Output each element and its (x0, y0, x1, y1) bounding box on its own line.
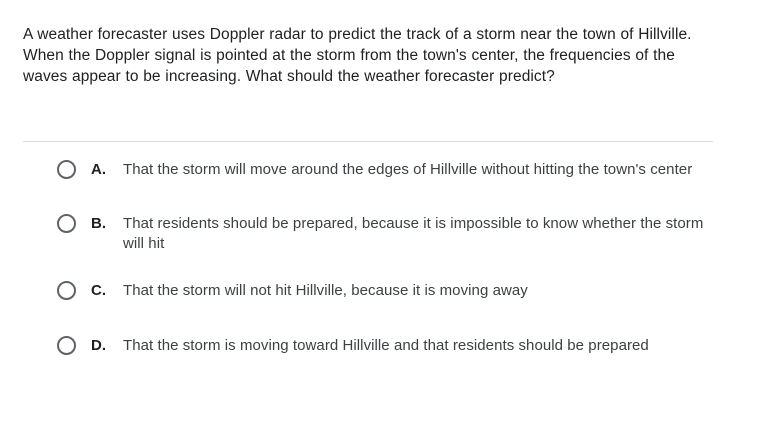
option-letter-a: A. (91, 160, 123, 180)
option-letter-b: B. (91, 214, 123, 234)
question-card: A weather forecaster uses Doppler radar … (0, 0, 778, 431)
radio-button-b[interactable] (57, 214, 76, 233)
section-divider (23, 141, 713, 142)
option-text-b: That residents should be prepared, becau… (123, 214, 715, 254)
option-text-c: That the storm will not hit Hillville, b… (123, 281, 715, 301)
option-row-d[interactable]: D. That the storm is moving toward Hillv… (0, 336, 778, 364)
option-letter-d: D. (91, 336, 123, 356)
question-stem: A weather forecaster uses Doppler radar … (23, 24, 713, 87)
option-row-a[interactable]: A. That the storm will move around the e… (0, 160, 778, 188)
radio-button-d[interactable] (57, 336, 76, 355)
option-row-b[interactable]: B. That residents should be prepared, be… (0, 214, 778, 254)
answer-options-list: A. That the storm will move around the e… (0, 160, 778, 364)
radio-button-c[interactable] (57, 281, 76, 300)
radio-button-a[interactable] (57, 160, 76, 179)
option-letter-c: C. (91, 281, 123, 301)
option-text-a: That the storm will move around the edge… (123, 160, 715, 180)
option-row-c[interactable]: C. That the storm will not hit Hillville… (0, 281, 778, 309)
option-text-d: That the storm is moving toward Hillvill… (123, 336, 715, 356)
